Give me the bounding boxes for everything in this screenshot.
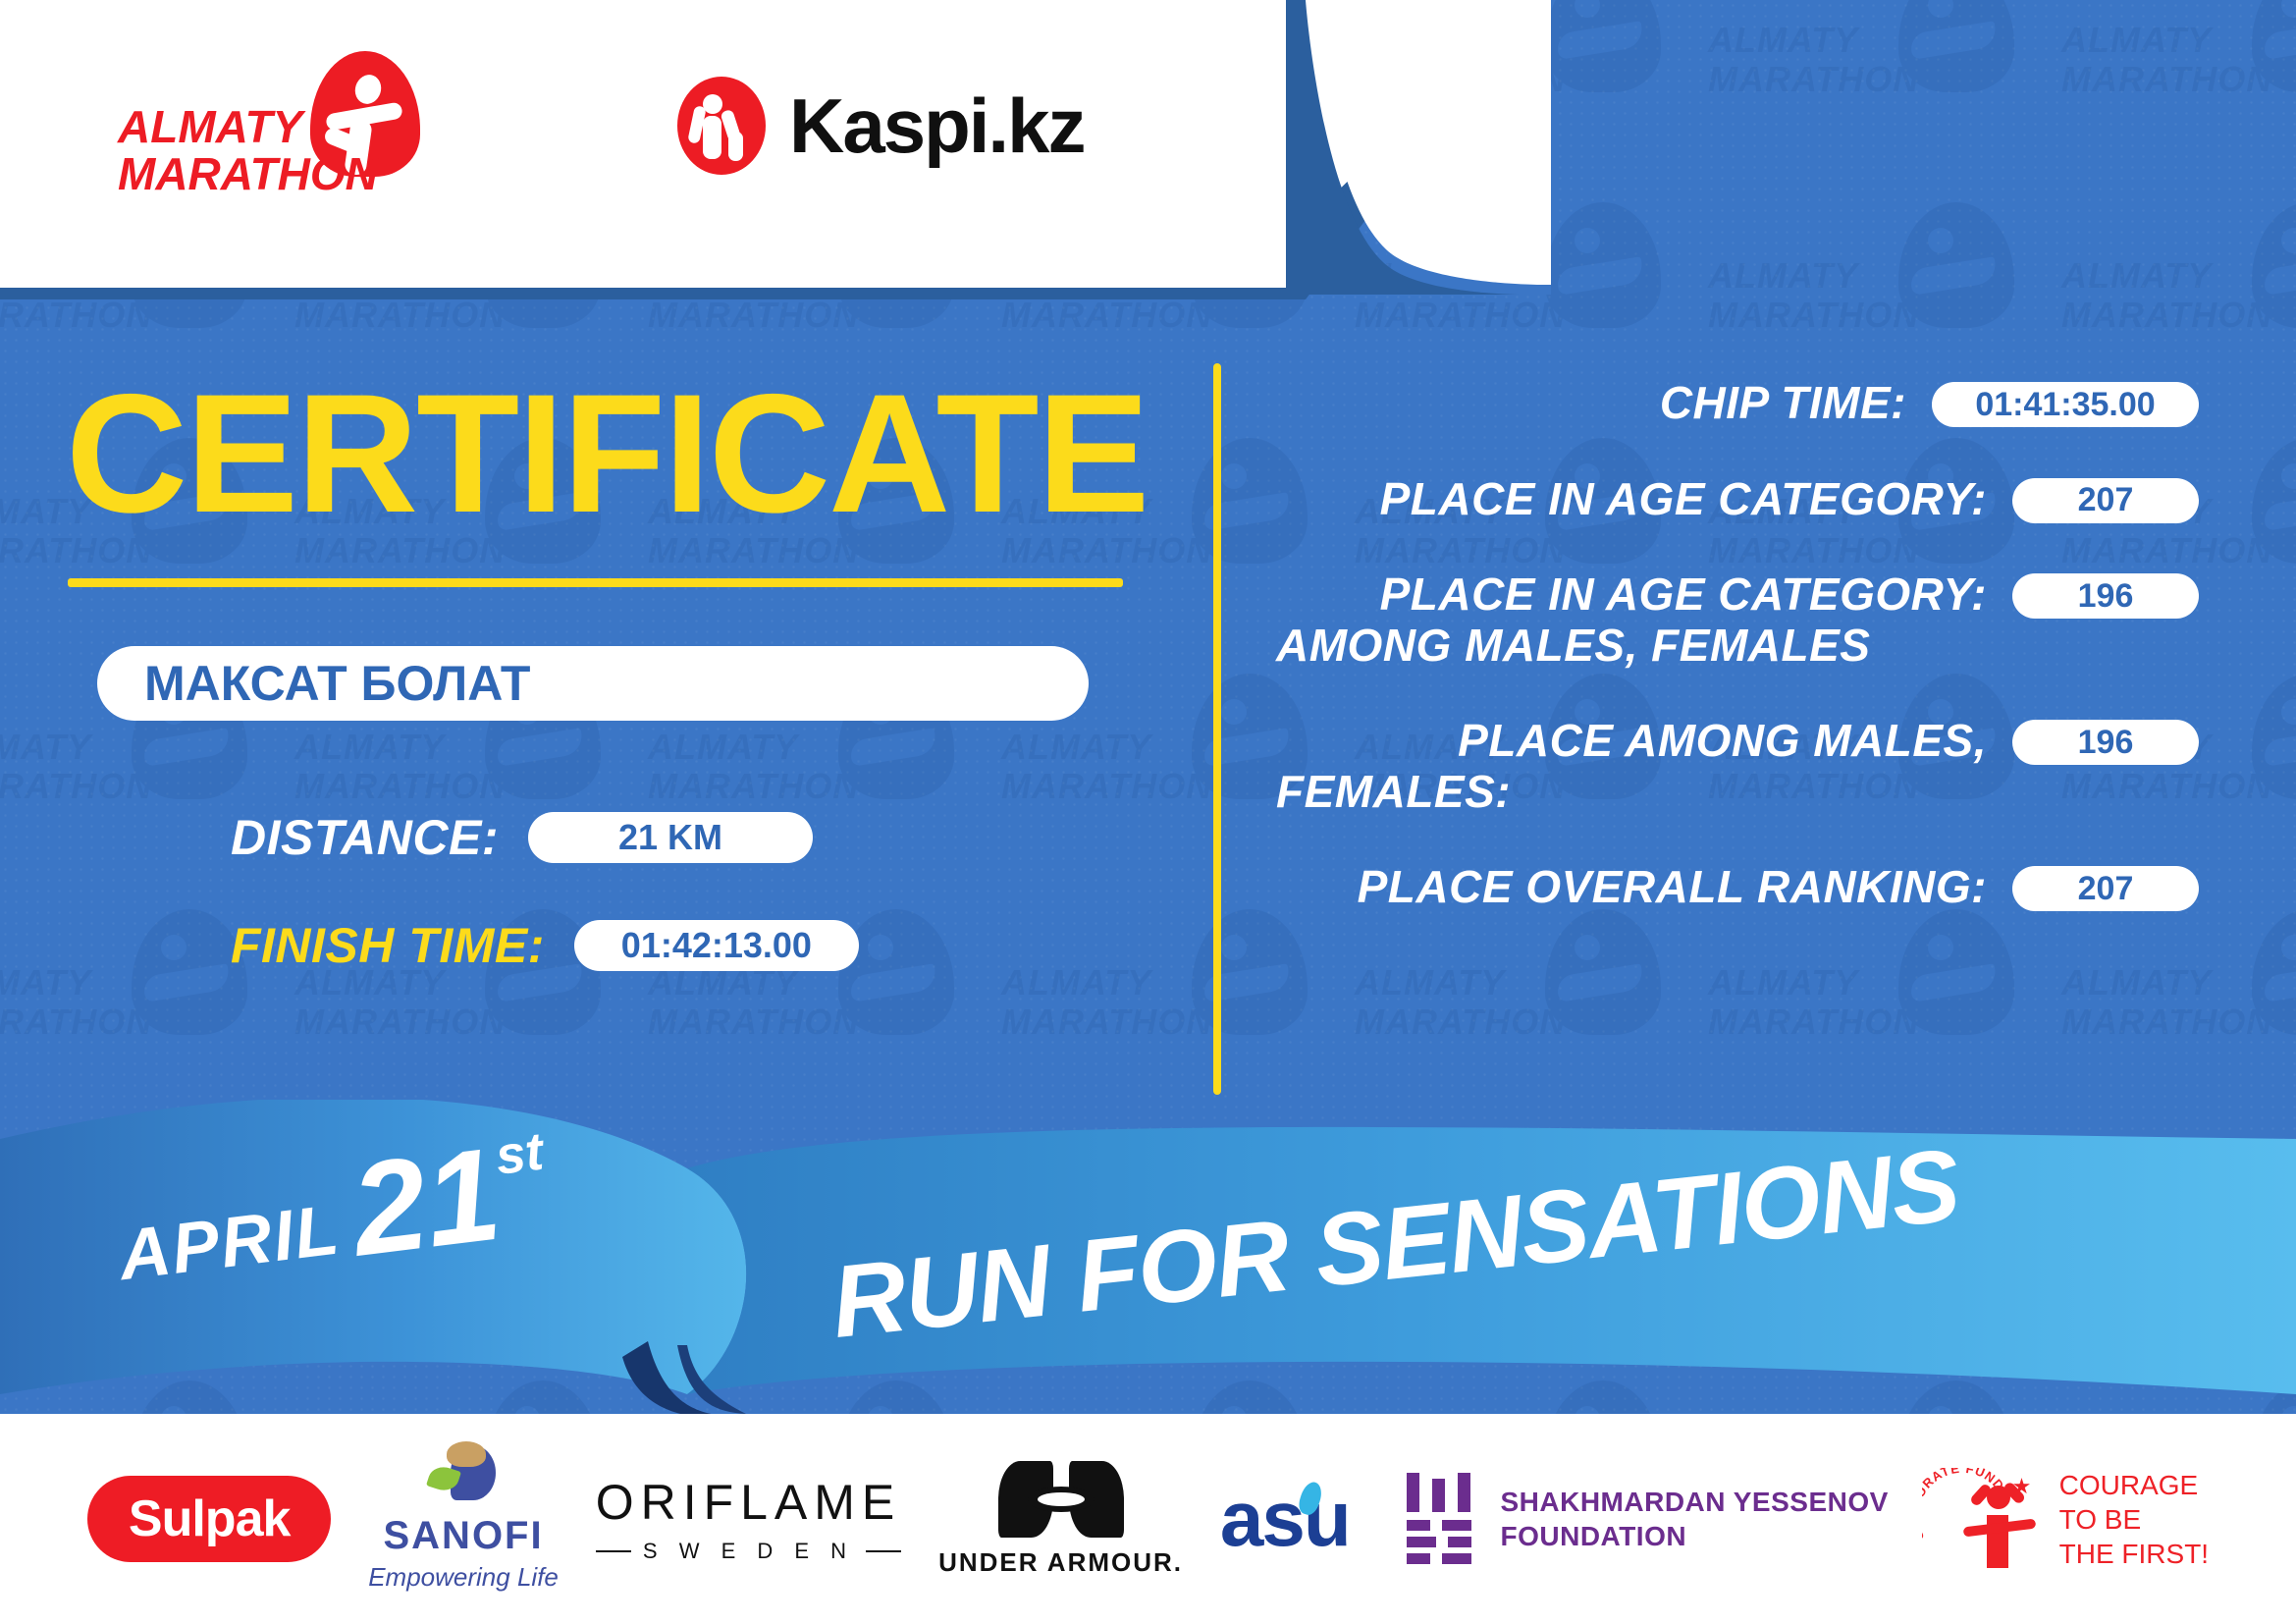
sponsor-asu: asu: [1220, 1480, 1369, 1558]
finish-time-value-pill: 01:42:13.00: [574, 920, 859, 971]
chip-time-value: 01:41:35.00: [1975, 386, 2155, 424]
sponsor-under-armour-text: UNDER ARMOUR.: [938, 1547, 1183, 1578]
place-among-gender-value-pill: 196: [2012, 720, 2199, 765]
sponsor-oriflame-text: ORIFLAME: [596, 1474, 902, 1531]
watermark-line2: MARATHON: [2061, 295, 2272, 336]
sponsor-yessenov-text: SHAKHMARDAN YESSENOV FOUNDATION: [1501, 1485, 1889, 1553]
chip-time-label: CHIP TIME:: [1276, 378, 1932, 429]
place-among-gender-label-line1: PLACE AMONG MALES,: [1458, 715, 1987, 766]
watermark-line2: MARATHON: [1708, 1001, 1919, 1043]
watermark-almaty-marathon: ALMATYMARATHON: [2061, 0, 2296, 128]
results-column: CHIP TIME: 01:41:35.00 PLACE IN AGE CATE…: [1276, 378, 2199, 958]
place-age-category-value: 207: [2078, 481, 2134, 519]
sponsor-yessenov-foundation: SHAKHMARDAN YESSENOV FOUNDATION: [1407, 1473, 1889, 1565]
sponsor-sanofi-text: SANOFI: [383, 1514, 543, 1558]
sponsor-yessenov-line2: FOUNDATION: [1501, 1519, 1889, 1553]
watermark-line1: ALMATY: [1708, 962, 1858, 1003]
kaspi-logo: Kaspi.kz: [677, 77, 1084, 175]
place-age-category-gender-value: 196: [2078, 577, 2134, 616]
sponsor-sanofi: SANOFI Empowering Life: [368, 1445, 559, 1593]
sponsor-sanofi-tagline: Empowering Life: [368, 1562, 559, 1593]
result-row-chip-time: CHIP TIME: 01:41:35.00: [1276, 378, 2199, 429]
watermark-line2: MARATHON: [1708, 295, 1919, 336]
vertical-divider: [1213, 363, 1221, 1095]
place-overall-label: PLACE OVERALL RANKING:: [1276, 862, 2012, 913]
sponsor-corporate-fund: CORPORATE FUND ★ COURAGE TO BE THE FIRST…: [1926, 1466, 2209, 1572]
watermark-line1: ALMATY: [1355, 962, 1505, 1003]
sponsor-oriflame: ORIFLAME S W E D E N: [596, 1474, 902, 1564]
participant-name-field: МАКСАТ БОЛАТ: [97, 646, 1089, 721]
watermark-almaty-marathon: ALMATYMARATHON: [1708, 0, 2032, 128]
result-row-place-among-gender: PLACE AMONG MALES, FEMALES: 196: [1276, 716, 2199, 817]
sponsor-asu-text: asu: [1220, 1480, 1350, 1558]
watermark-line2: MARATHON: [2061, 59, 2272, 100]
watermark-line1: ALMATY: [1708, 20, 1858, 61]
place-age-category-value-pill: 207: [2012, 478, 2199, 523]
oriflame-rule-right: [866, 1550, 901, 1552]
finish-time-row: FINISH TIME: 01:42:13.00: [231, 917, 1183, 974]
kaspi-person-icon: [677, 77, 766, 175]
header-curve-shape: [1139, 0, 1551, 295]
result-row-place-age-category-gender: PLACE IN AGE CATEGORY: AMONG MALES, FEMA…: [1276, 569, 2199, 671]
watermark-line2: MARATHON: [0, 295, 152, 336]
sponsor-corporate-fund-line3: THE FIRST!: [2059, 1537, 2209, 1571]
sponsor-bar: Sulpak SANOFI Empowering Life ORIFLAME S…: [0, 1414, 2296, 1624]
watermark-almaty-marathon: ALMATYMARATHON: [2061, 196, 2296, 363]
place-overall-value: 207: [2078, 870, 2134, 908]
almaty-marathon-logo: ALMATY MARATHON: [118, 59, 442, 196]
watermark-line2: MARATHON: [1355, 1001, 1566, 1043]
sponsor-corporate-fund-text: COURAGE TO BE THE FIRST!: [2059, 1468, 2209, 1571]
marathon-logo-line2: MARATHON: [118, 147, 378, 200]
distance-label: DISTANCE:: [231, 809, 499, 866]
sponsor-oriflame-tagline: S W E D E N: [643, 1539, 854, 1564]
corporate-fund-runner-icon: ★: [1969, 1478, 2036, 1568]
sponsor-yessenov-line1: SHAKHMARDAN YESSENOV: [1501, 1485, 1889, 1519]
marathon-logo-line1: ALMATY: [118, 100, 302, 153]
chip-time-value-pill: 01:41:35.00: [1932, 382, 2199, 427]
place-among-gender-label: PLACE AMONG MALES, FEMALES:: [1276, 716, 2012, 817]
watermark-line1: ALMATY: [1708, 255, 1858, 297]
watermark-line2: MARATHON: [294, 295, 506, 336]
place-age-category-gender-label-line1: PLACE IN AGE CATEGORY:: [1380, 568, 1987, 620]
under-armour-icon: [998, 1461, 1124, 1538]
watermark-line1: ALMATY: [2061, 962, 2212, 1003]
place-age-category-gender-label: PLACE IN AGE CATEGORY: AMONG MALES, FEMA…: [1276, 569, 2012, 671]
ribbon-ordinal-suffix: st: [492, 1121, 546, 1187]
result-row-place-age-category: PLACE IN AGE CATEGORY: 207: [1276, 474, 2199, 525]
corporate-fund-icon: CORPORATE FUND ★: [1926, 1466, 2044, 1572]
participant-name-value: МАКСАТ БОЛАТ: [144, 655, 530, 712]
sponsor-sulpak-text: Sulpak: [129, 1489, 291, 1548]
finish-time-value: 01:42:13.00: [621, 925, 812, 966]
place-age-category-gender-label-line2: AMONG MALES, FEMALES: [1276, 621, 1987, 672]
certificate-page: ALMATYMARATHONALMATYMARATHONALMATYMARATH…: [0, 0, 2296, 1624]
kaspi-logo-text: Kaspi.kz: [789, 81, 1084, 171]
watermark-line2: MARATHON: [294, 1001, 506, 1043]
certificate-left-column: CERTIFICATE МАКСАТ БОЛАТ DISTANCE: 21 KM…: [54, 373, 1183, 974]
sponsor-under-armour: UNDER ARMOUR.: [938, 1461, 1183, 1578]
certificate-title: CERTIFICATE: [54, 373, 1183, 535]
sponsor-sulpak: Sulpak: [87, 1476, 332, 1562]
place-overall-value-pill: 207: [2012, 866, 2199, 911]
watermark-line2: MARATHON: [0, 1001, 152, 1043]
distance-value-pill: 21 KM: [528, 812, 813, 863]
sponsor-oriflame-subline: S W E D E N: [596, 1539, 902, 1564]
yessenov-foundation-icon: [1407, 1473, 1477, 1565]
place-age-category-gender-value-pill: 196: [2012, 573, 2199, 619]
watermark-line2: MARATHON: [648, 1001, 859, 1043]
watermark-line1: ALMATY: [2061, 20, 2212, 61]
ribbon-day: 21: [347, 1138, 506, 1269]
finish-time-label: FINISH TIME:: [231, 917, 545, 974]
watermark-line2: MARATHON: [1708, 59, 1919, 100]
place-among-gender-value: 196: [2078, 724, 2134, 762]
watermark-line2: MARATHON: [1355, 295, 1566, 336]
result-row-place-overall: PLACE OVERALL RANKING: 207: [1276, 862, 2199, 913]
watermark-line1: ALMATY: [2061, 255, 2212, 297]
distance-row: DISTANCE: 21 KM: [231, 809, 1183, 866]
sponsor-corporate-fund-line2: TO BE: [2059, 1502, 2209, 1537]
watermark-line2: MARATHON: [648, 295, 859, 336]
watermark-line2: MARATHON: [1001, 1001, 1212, 1043]
title-underline: [68, 578, 1123, 587]
place-age-category-label: PLACE IN AGE CATEGORY:: [1276, 474, 2012, 525]
oriflame-rule-left: [596, 1550, 631, 1552]
watermark-line2: MARATHON: [2061, 1001, 2272, 1043]
distance-value: 21 KM: [618, 817, 722, 858]
watermark-line2: MARATHON: [1001, 295, 1212, 336]
watermark-almaty-marathon: ALMATYMARATHON: [1708, 196, 2032, 363]
sponsor-corporate-fund-line1: COURAGE: [2059, 1468, 2209, 1502]
place-among-gender-label-line2: FEMALES:: [1276, 767, 1987, 818]
sanofi-icon: [427, 1445, 500, 1508]
